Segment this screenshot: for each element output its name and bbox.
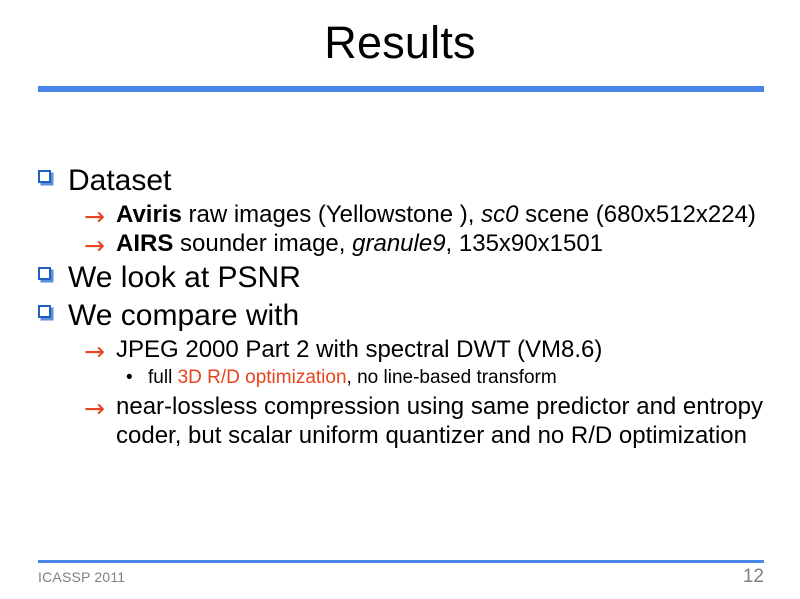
airs-granule: granule9 (352, 230, 445, 257)
slide-body: Dataset → Aviris raw images (Yellowstone… (38, 162, 768, 451)
square-bullet-icon (38, 267, 68, 284)
square-bullet-icon (38, 305, 68, 322)
airs-name: AIRS (116, 230, 173, 257)
bullet-jpeg2000-sub: • full 3D R/D optimization, no line-base… (126, 366, 768, 390)
aviris-tail: scene (680x512x224) (518, 201, 756, 228)
dot-bullet-icon: • (126, 367, 148, 390)
sub-lead: full (148, 367, 178, 388)
slide-title: Results (0, 18, 800, 68)
aviris-mid: raw images (Yellowstone ), (182, 201, 481, 228)
bullet-jpeg2000-sub-text: full 3D R/D optimization, no line-based … (148, 366, 768, 390)
title-divider-rule (38, 86, 764, 92)
bullet-compare-label: We compare with (68, 297, 768, 334)
arrow-icon: → (84, 396, 116, 421)
airs-tail: , 135x90x1501 (446, 230, 603, 257)
bullet-near-lossless: → near-lossless compression using same p… (84, 392, 768, 451)
slide-number: 12 (743, 566, 764, 588)
bullet-jpeg2000: → JPEG 2000 Part 2 with spectral DWT (VM… (84, 335, 768, 364)
arrow-icon: → (84, 233, 116, 258)
bullet-aviris: → Aviris raw images (Yellowstone ), sc0 … (84, 200, 768, 229)
title-block: Results (0, 18, 800, 68)
slide-footer: ICASSP 2011 12 (38, 566, 764, 588)
presentation-slide: Results Dataset → Aviris raw images (Yel… (0, 0, 800, 599)
arrow-icon: → (84, 204, 116, 229)
bullet-dataset: Dataset (38, 162, 768, 199)
airs-mid: sounder image, (173, 230, 352, 257)
arrow-icon: → (84, 339, 116, 364)
bullet-psnr: We look at PSNR (38, 259, 768, 296)
bullet-compare: We compare with (38, 297, 768, 334)
bullet-psnr-label: We look at PSNR (68, 259, 768, 296)
sub-tail: , no line-based transform (347, 367, 557, 388)
bullet-aviris-text: Aviris raw images (Yellowstone ), sc0 sc… (116, 200, 768, 229)
aviris-name: Aviris (116, 201, 182, 228)
footer-conference-label: ICASSP 2011 (38, 569, 125, 585)
aviris-scene: sc0 (481, 201, 518, 228)
bullet-jpeg2000-text: JPEG 2000 Part 2 with spectral DWT (VM8.… (116, 335, 768, 364)
bullet-airs-text: AIRS sounder image, granule9, 135x90x150… (116, 229, 768, 258)
bullet-airs: → AIRS sounder image, granule9, 135x90x1… (84, 229, 768, 258)
square-bullet-icon (38, 170, 68, 187)
sub-highlight: 3D R/D optimization (178, 367, 347, 388)
bullet-near-lossless-text: near-lossless compression using same pre… (116, 392, 768, 451)
bullet-dataset-label: Dataset (68, 162, 768, 199)
footer-divider-rule (38, 560, 764, 563)
